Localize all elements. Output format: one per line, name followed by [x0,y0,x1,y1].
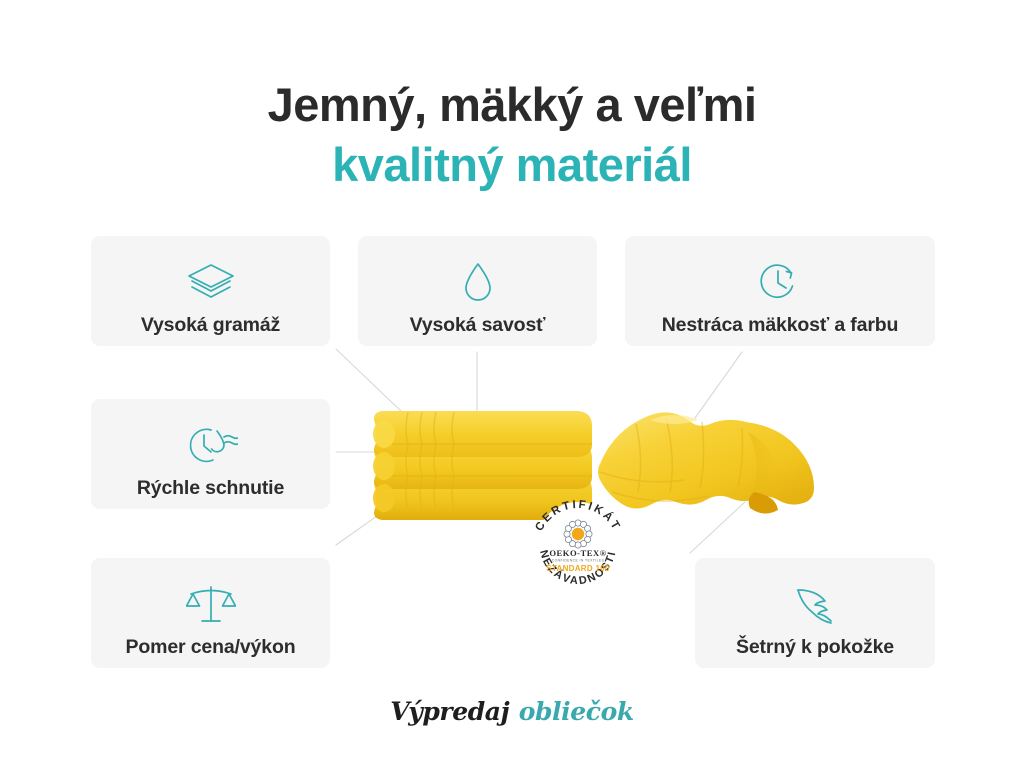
cert-standard-text: STANDARD 100 [546,564,610,573]
feature-card-label: Vysoká gramáž [141,314,280,337]
feature-card-vysoka-gramaz[interactable]: Vysoká gramáž [91,236,330,346]
feature-card-label: Rýchle schnutie [137,477,284,500]
feature-card-label: Pomer cena/výkon [126,636,296,659]
feature-card-vysoka-savost[interactable]: Vysoká savosť [358,236,597,346]
water-drop-icon [455,256,501,308]
product-image-towels [350,372,830,552]
layers-icon [185,256,237,308]
feature-card-pomer-cena-vykon[interactable]: Pomer cena/výkon [91,558,330,668]
feature-card-label: Nestráca mäkkosť a farbu [662,314,899,337]
headline-line-2: kvalitný materiál [0,137,1024,192]
quick-dry-icon [184,419,238,471]
feature-card-label: Vysoká savosť [410,314,546,337]
page-title: Jemný, mäkký a veľmi kvalitný materiál [0,77,1024,192]
brand-logo-part-2: obliečok [519,697,634,726]
feature-card-nestraca-makkost[interactable]: Nestráca mäkkosť a farbu [625,236,935,346]
cert-bottom-arc-text: NEZÁVADNOSTI [537,549,619,587]
feature-card-setrny-k-pokozke[interactable]: Šetrný k pokožke [695,558,935,668]
folded-towel-stack [373,411,592,520]
leaf-icon [789,578,841,630]
brand-logo[interactable]: Výpredaj obliečok [0,697,1024,726]
feature-card-rychle-schnutie[interactable]: Rýchle schnutie [91,399,330,509]
balance-scale-icon [186,578,236,630]
infographic-canvas: Jemný, mäkký a veľmi kvalitný materiál [0,0,1024,768]
svg-text:NEZÁVADNOSTI: NEZÁVADNOSTI [537,549,619,587]
cert-subline-text: CONFIDENCE IN TEXTILES [552,559,605,563]
feature-card-label: Šetrný k pokožke [736,636,894,659]
brand-logo-part-1: Výpredaj [390,697,509,726]
draped-towel [598,412,814,513]
clock-refresh-icon [756,256,804,308]
headline-line-1: Jemný, mäkký a veľmi [0,77,1024,132]
